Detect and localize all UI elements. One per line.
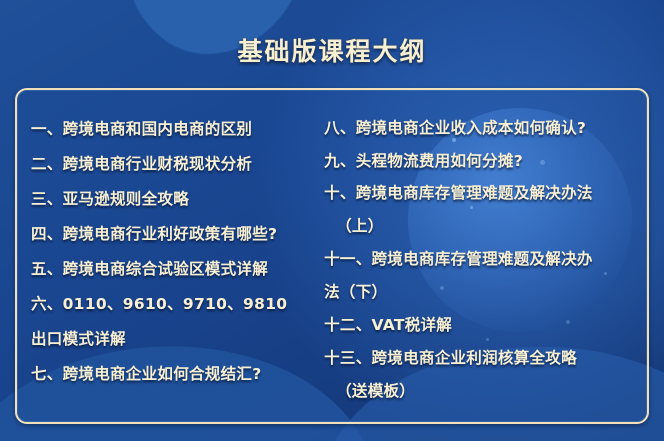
outline-item-right-4: 十一、跨境电商库存管理难题及解决办 [324, 244, 637, 277]
outline-item-left-7: 七、跨境电商企业如何合规结汇? [31, 357, 324, 392]
outline-item-left-2: 三、亚马逊规则全攻略 [31, 182, 324, 217]
outline-item-right-7: 十三、跨境电商企业利润核算全攻略 [324, 342, 637, 375]
outline-item-right-8: （送模板） [324, 375, 637, 408]
outline-item-left-5: 六、0110、9610、9710、9810 [31, 287, 324, 322]
outline-right-column: 八、跨境电商企业收入成本如何确认?九、头程物流费用如何分摊?十、跨境电商库存管理… [324, 112, 637, 408]
outline-item-left-1: 二、跨境电商行业财税现状分析 [31, 147, 324, 182]
outline-item-right-3: （上） [324, 211, 637, 244]
page-title: 基础版课程大纲 [0, 32, 664, 68]
outline-item-left-0: 一、跨境电商和国内电商的区别 [31, 112, 324, 147]
outline-panel: 一、跨境电商和国内电商的区别二、跨境电商行业财税现状分析三、亚马逊规则全攻略四、… [15, 88, 649, 424]
outline-item-right-1: 九、头程物流费用如何分摊? [324, 145, 637, 178]
slide-canvas: 基础版课程大纲 一、跨境电商和国内电商的区别二、跨境电商行业财税现状分析三、亚马… [0, 0, 664, 441]
outline-left-column: 一、跨境电商和国内电商的区别二、跨境电商行业财税现状分析三、亚马逊规则全攻略四、… [31, 112, 324, 408]
outline-item-right-5: 法（下） [324, 276, 637, 309]
outline-columns: 一、跨境电商和国内电商的区别二、跨境电商行业财税现状分析三、亚马逊规则全攻略四、… [17, 90, 647, 422]
outline-item-left-4: 五、跨境电商综合试验区模式详解 [31, 252, 324, 287]
outline-item-left-6: 出口模式详解 [31, 322, 324, 357]
outline-item-right-2: 十、跨境电商库存管理难题及解决办法 [324, 178, 637, 211]
outline-item-right-6: 十二、VAT税详解 [324, 309, 637, 342]
outline-item-right-0: 八、跨境电商企业收入成本如何确认? [324, 112, 637, 145]
outline-item-left-3: 四、跨境电商行业利好政策有哪些? [31, 217, 324, 252]
